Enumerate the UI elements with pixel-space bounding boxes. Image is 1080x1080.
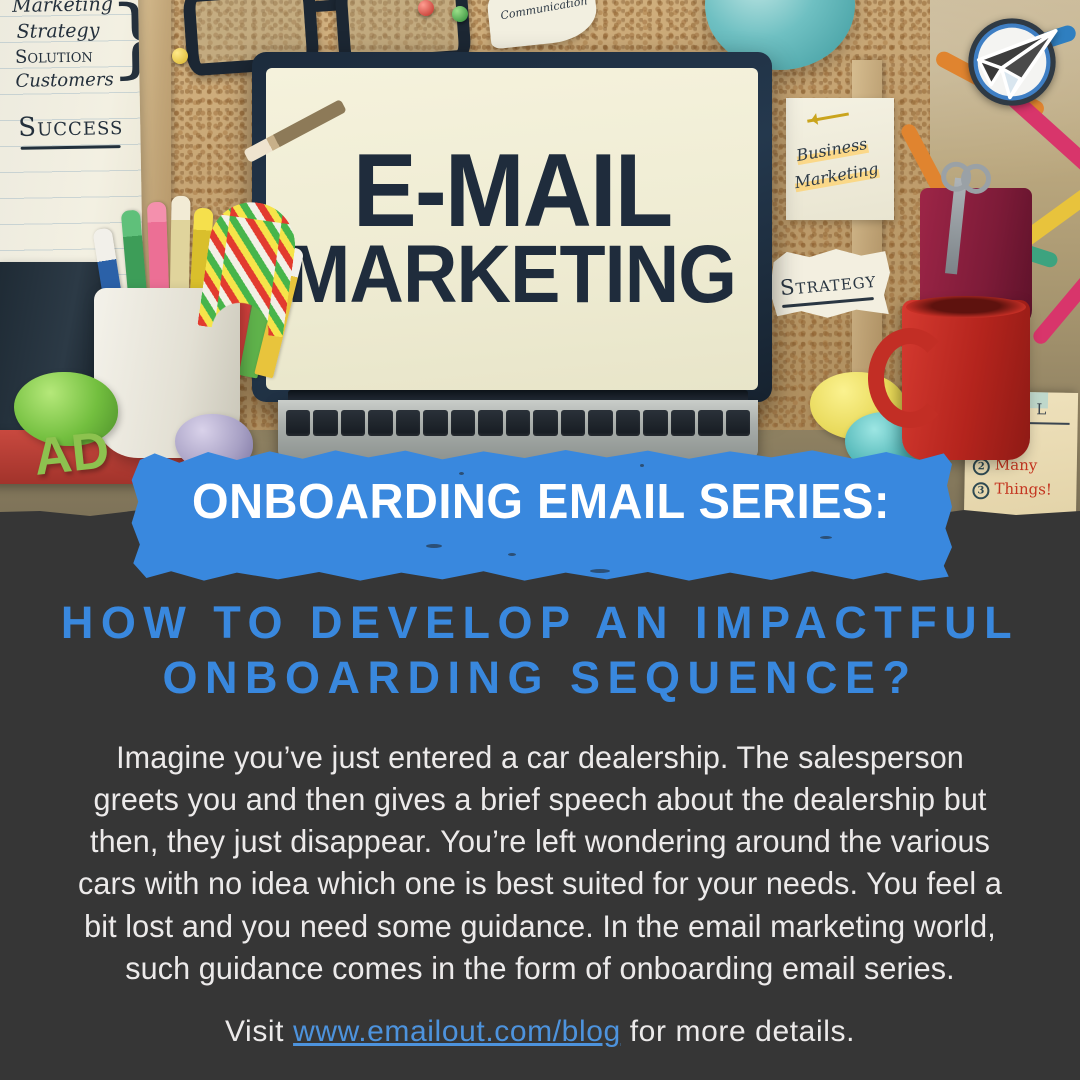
pushpin-green — [452, 6, 468, 22]
banner-speck-2 — [640, 464, 644, 467]
laptop-screen: E-MAIL MARKETING — [266, 68, 758, 390]
pushpin-red — [418, 0, 434, 16]
screen-title-line1: E-MAIL — [353, 146, 671, 238]
todo-number-2: 2 — [973, 458, 990, 475]
notepad-line-strategy: Strategy — [16, 19, 99, 42]
todo-text-3: Things! — [994, 480, 1052, 499]
footer-prefix: Visit — [225, 1015, 293, 1048]
page-headline: How to develop an impactful onboarding s… — [60, 596, 1020, 706]
body-paragraph: Imagine you’ve just entered a car dealer… — [76, 736, 1003, 989]
notepad-success-underline — [21, 145, 121, 150]
banner-title: ONBOARDING EMAIL SERIES: — [146, 474, 935, 530]
foam-letters: AD — [31, 420, 112, 488]
laptop-keys — [286, 410, 750, 436]
banner-speck-6 — [590, 569, 610, 573]
torn-note-strategy: Strategy — [770, 246, 890, 320]
notepad-line-solution: Solution — [15, 46, 93, 68]
mug-red — [902, 300, 1030, 460]
poster-canvas: Marketing Strategy Solution Customers } … — [0, 0, 1080, 1080]
note-arrow-icon — [807, 112, 851, 133]
notepad-success-word: Success — [18, 111, 124, 143]
paper-plane-logo-icon[interactable] — [960, 10, 1064, 114]
hero-photo: Marketing Strategy Solution Customers } … — [0, 0, 1080, 520]
torn-note-text: Strategy — [779, 268, 877, 300]
note-business-line1: Business — [795, 134, 869, 165]
mug-red-rim — [906, 296, 1026, 318]
todo-number-3: 3 — [972, 482, 989, 499]
blog-link[interactable]: www.emailout.com/blog — [293, 1015, 621, 1048]
note-business-line2: Marketing — [793, 159, 880, 192]
banner: ONBOARDING EMAIL SERIES: — [130, 448, 952, 582]
screen-title-line2: MARKETING — [288, 237, 737, 312]
footer-cta: Visit www.emailout.com/blog for more det… — [0, 1015, 1080, 1049]
footer-suffix: for more details. — [621, 1015, 855, 1048]
notepad-line-marketing: Marketing — [12, 0, 113, 17]
notepad-line-customers: Customers — [15, 69, 114, 92]
speech-bubble-text: Communication — [499, 0, 588, 22]
pushpin-yellow — [172, 48, 188, 64]
todo-item-3: 3Things! — [972, 479, 1052, 500]
content-block: How to develop an impactful onboarding s… — [0, 596, 1080, 1049]
banner-speck-4 — [508, 553, 516, 556]
sticky-note-business-marketing: Business Marketing — [786, 98, 894, 220]
